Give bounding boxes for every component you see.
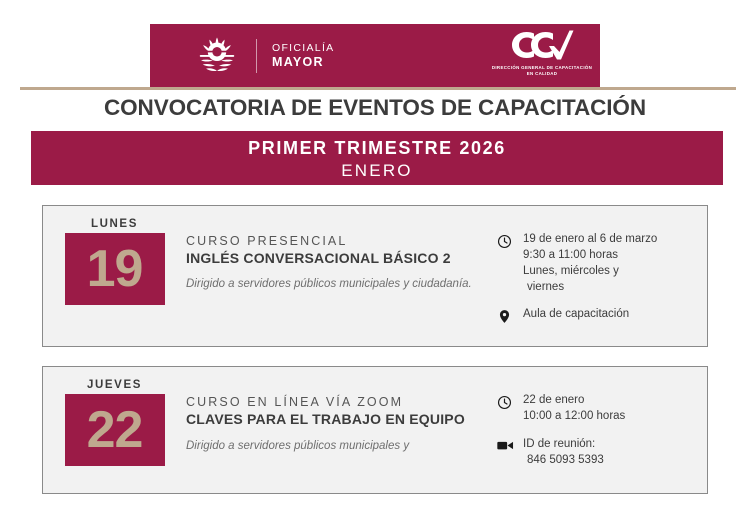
event-day-box: 19 bbox=[65, 233, 165, 305]
event-place-text: Aula de capacitación bbox=[523, 307, 629, 323]
schedule-line: Lunes, miércoles y bbox=[523, 264, 657, 280]
event-course-column: CURSO PRESENCIAL INGLÉS CONVERSACIONAL B… bbox=[186, 216, 497, 292]
event-day-number: 22 bbox=[87, 404, 143, 456]
quarter-label: PRIMER TRIMESTRE 2026 bbox=[31, 138, 723, 159]
event-meeting-text: ID de reunión: 846 5093 5393 bbox=[523, 437, 604, 469]
meeting-line: ID de reunión: bbox=[523, 437, 604, 453]
primary-logo-group: OFICIALÍA MAYOR bbox=[196, 35, 334, 77]
meeting-line: 846 5093 5393 bbox=[523, 453, 604, 469]
event-detail-column: 22 de enero 10:00 a 12:00 horas ID de re… bbox=[497, 377, 707, 480]
schedule-line: 10:00 a 12:00 horas bbox=[523, 409, 625, 425]
event-course-modality: CURSO PRESENCIAL bbox=[186, 234, 485, 248]
clock-icon bbox=[497, 393, 523, 410]
event-course-column: CURSO EN LÍNEA VÍA ZOOM CLAVES PARA EL T… bbox=[186, 377, 497, 453]
event-place-row: Aula de capacitación bbox=[497, 307, 701, 324]
page-masthead: OFICIALÍA MAYOR DIRECCIÓN GENERAL DE CAP… bbox=[0, 0, 750, 92]
brand-line-oficialia: OFICIALÍA bbox=[272, 43, 334, 55]
gold-divider-rule bbox=[20, 87, 736, 90]
event-course-modality: CURSO EN LÍNEA VÍA ZOOM bbox=[186, 395, 485, 409]
schedule-line: 19 de enero al 6 de marzo bbox=[523, 232, 657, 248]
event-card[interactable]: LUNES 19 CURSO PRESENCIAL INGLÉS CONVERS… bbox=[42, 205, 708, 347]
event-detail-column: 19 de enero al 6 de marzo 9:30 a 11:00 h… bbox=[497, 216, 707, 336]
event-card-stack: LUNES 19 CURSO PRESENCIAL INGLÉS CONVERS… bbox=[42, 205, 708, 513]
page-title: CONVOCATORIA DE EVENTOS DE CAPACITACIÓN bbox=[0, 95, 750, 121]
event-weekday: LUNES bbox=[43, 218, 186, 230]
event-course-name: INGLÉS CONVERSACIONAL BÁSICO 2 bbox=[186, 250, 485, 267]
schedule-line: 9:30 a 11:00 horas bbox=[523, 248, 657, 264]
secondary-logo-caption: DIRECCIÓN GENERAL DE CAPACITACIÓN EN CAL… bbox=[490, 65, 594, 78]
brand-band: OFICIALÍA MAYOR DIRECCIÓN GENERAL DE CAP… bbox=[150, 24, 600, 88]
event-course-audience: Dirigido a servidores públicos municipal… bbox=[186, 438, 485, 454]
cc-checkmark-logo-icon bbox=[510, 28, 574, 62]
event-day-box: 22 bbox=[65, 394, 165, 466]
event-course-name: CLAVES PARA EL TRABAJO EN EQUIPO bbox=[186, 411, 485, 428]
brand-divider bbox=[256, 39, 257, 73]
event-day-number: 19 bbox=[87, 243, 143, 295]
clock-icon bbox=[497, 232, 523, 249]
secondary-logo-group: DIRECCIÓN GENERAL DE CAPACITACIÓN EN CAL… bbox=[490, 28, 594, 78]
event-date-column: LUNES 19 bbox=[43, 216, 186, 305]
event-card[interactable]: JUEVES 22 CURSO EN LÍNEA VÍA ZOOM CLAVES… bbox=[42, 366, 708, 494]
event-meeting-row: ID de reunión: 846 5093 5393 bbox=[497, 437, 701, 469]
event-schedule-row: 22 de enero 10:00 a 12:00 horas bbox=[497, 393, 701, 425]
event-schedule-text: 22 de enero 10:00 a 12:00 horas bbox=[523, 393, 625, 425]
brand-line-mayor: MAYOR bbox=[272, 55, 334, 69]
event-schedule-text: 19 de enero al 6 de marzo 9:30 a 11:00 h… bbox=[523, 232, 657, 295]
event-schedule-row: 19 de enero al 6 de marzo 9:30 a 11:00 h… bbox=[497, 232, 701, 295]
event-date-column: JUEVES 22 bbox=[43, 377, 186, 466]
schedule-line: viernes bbox=[523, 280, 657, 296]
event-course-audience: Dirigido a servidores públicos municipal… bbox=[186, 276, 485, 292]
month-label: ENERO bbox=[31, 161, 723, 181]
event-weekday: JUEVES bbox=[43, 379, 186, 391]
brand-wordmark: OFICIALÍA MAYOR bbox=[272, 43, 334, 69]
schedule-line: 22 de enero bbox=[523, 393, 625, 409]
map-pin-icon bbox=[497, 307, 523, 324]
sun-shell-emblem-icon bbox=[196, 35, 238, 77]
quarter-band: PRIMER TRIMESTRE 2026 ENERO bbox=[31, 131, 723, 185]
place-line: Aula de capacitación bbox=[523, 307, 629, 323]
